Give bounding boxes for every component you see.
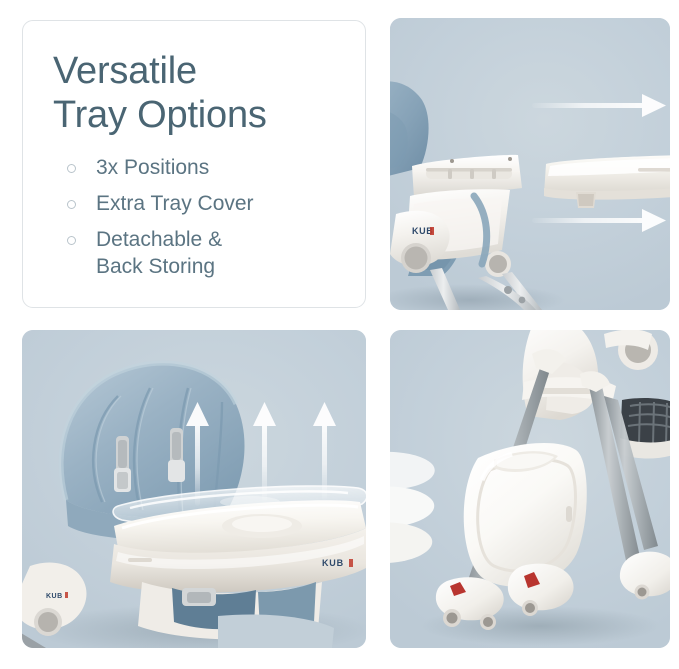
brand-logo-text: KUB bbox=[322, 558, 344, 568]
photo-panel-back-storing: Tray stored on the back legs of the fold… bbox=[390, 330, 670, 648]
list-item: 3x Positions bbox=[53, 155, 339, 182]
brand-logo-text: KUB bbox=[46, 593, 63, 600]
highchair-back-storing-illustration bbox=[390, 330, 670, 648]
feature-label: Detachable & Back Storing bbox=[96, 227, 222, 281]
infographic-root: Versatile Tray Options 3x Positions Extr… bbox=[0, 0, 679, 669]
highchair-detachable-tray-illustration: KUB bbox=[390, 18, 670, 310]
feature-list: 3x Positions Extra Tray Cover Detachable… bbox=[53, 155, 339, 281]
direction-arrow-right-top bbox=[532, 94, 666, 117]
harness-buckle-right bbox=[168, 428, 185, 482]
feature-label: 3x Positions bbox=[96, 155, 209, 182]
list-item: Extra Tray Cover bbox=[53, 191, 339, 218]
background-tray-stack bbox=[390, 452, 435, 563]
page-title: Versatile Tray Options bbox=[53, 49, 339, 137]
feature-label: Extra Tray Cover bbox=[96, 191, 254, 218]
bullet-circle-icon bbox=[67, 236, 76, 245]
bullet-circle-icon bbox=[67, 200, 76, 209]
bullet-circle-icon bbox=[67, 164, 76, 173]
detached-tray bbox=[544, 155, 670, 208]
photo-panel-detachable-tray: KUB bbox=[390, 18, 670, 310]
highchair-tray-cover-illustration: KUB KUB bbox=[22, 330, 366, 648]
feature-text-card: Versatile Tray Options 3x Positions Extr… bbox=[22, 20, 366, 308]
stored-tray bbox=[464, 443, 587, 587]
harness-buckle-left bbox=[114, 436, 131, 492]
photo-panel-tray-cover: KUB KUB bbox=[22, 330, 366, 648]
list-item: Detachable & Back Storing bbox=[53, 227, 339, 281]
direction-arrow-right-bottom bbox=[532, 209, 666, 232]
